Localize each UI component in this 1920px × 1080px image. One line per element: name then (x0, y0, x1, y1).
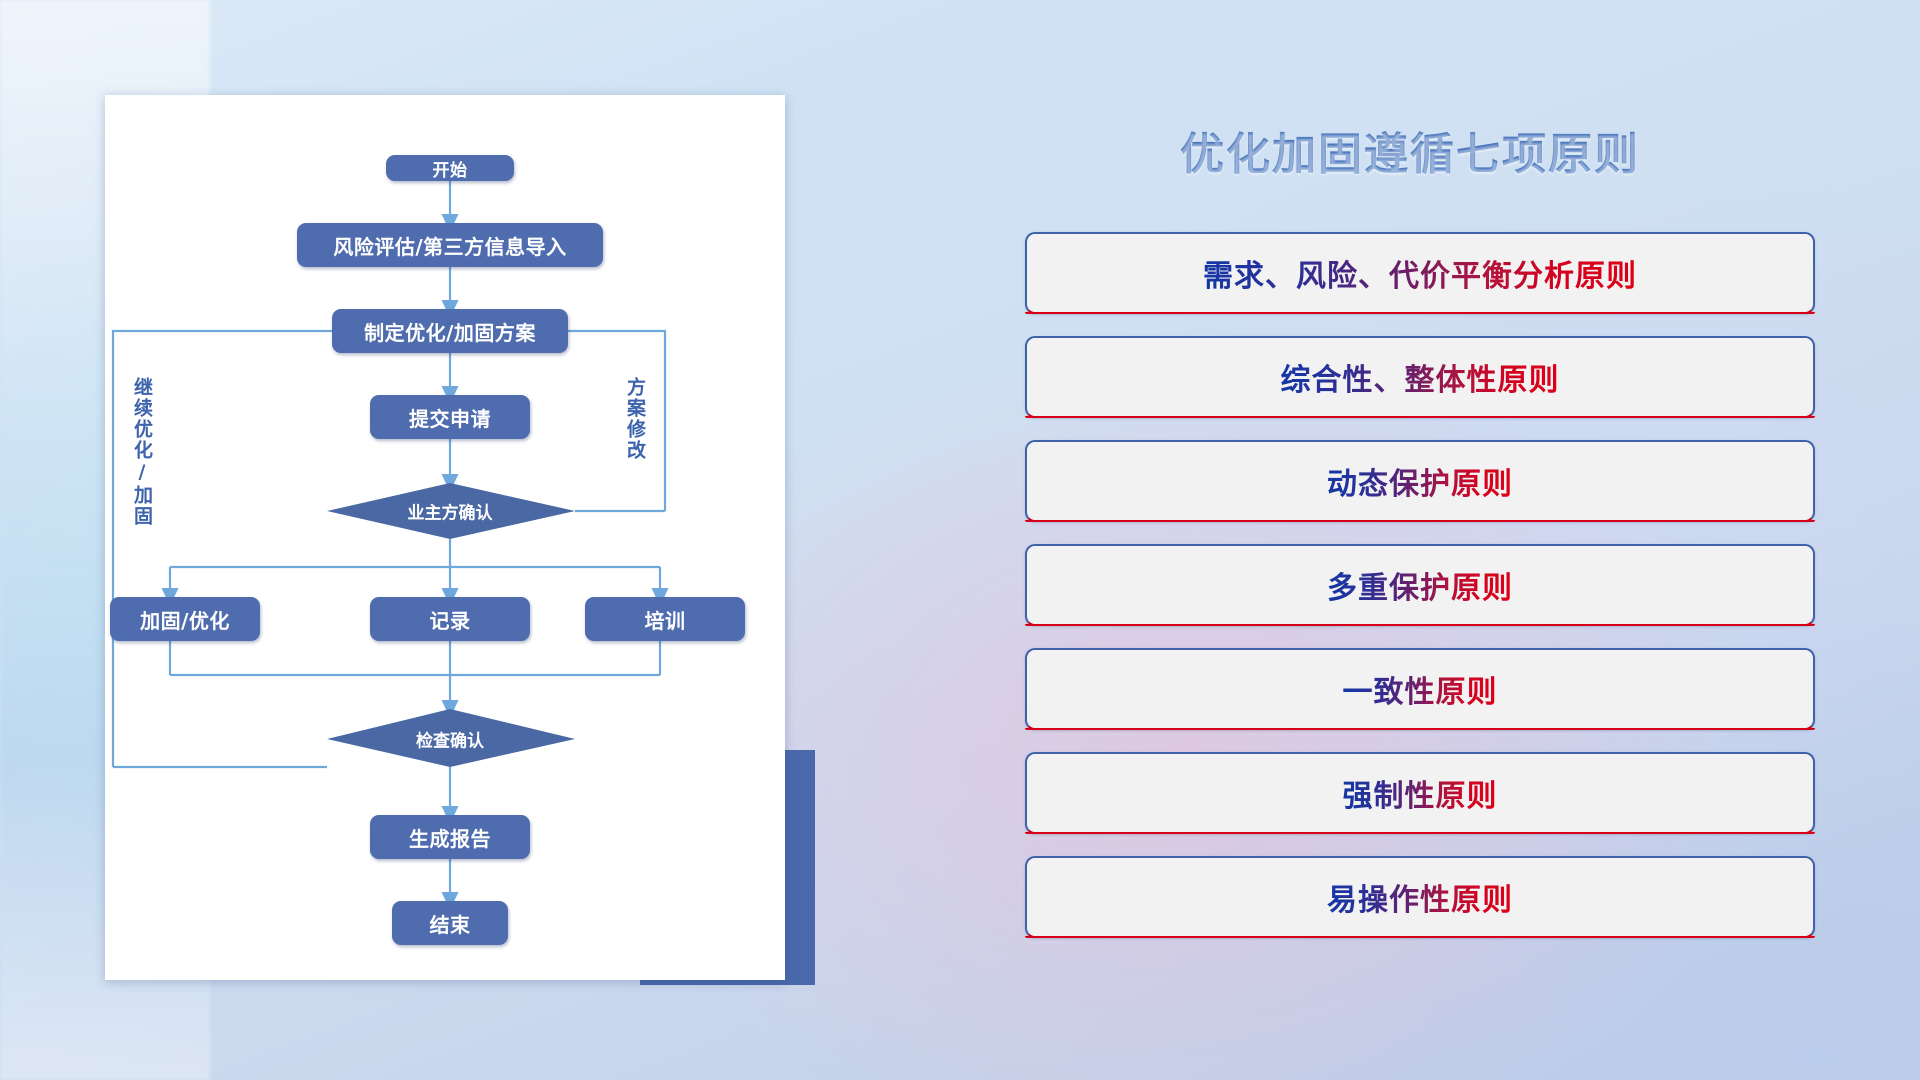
principle-label: 综合性、整体性原则 (1281, 355, 1560, 399)
principle-item-3[interactable]: 动态保护原则 (1025, 440, 1815, 522)
principle-item-6[interactable]: 强制性原则 (1025, 752, 1815, 834)
decision-inspection-label: 检查确认 (416, 727, 484, 752)
decision-owner-confirm-label: 业主方确认 (408, 499, 493, 524)
principle-item-4[interactable]: 多重保护原则 (1025, 544, 1815, 626)
node-generate-report[interactable]: 生成报告 (370, 815, 530, 859)
principle-label: 动态保护原则 (1327, 459, 1513, 503)
principle-label: 需求、风险、代价平衡分析原则 (1203, 251, 1637, 295)
page-title: 优化加固遵循七项原则 (1030, 118, 1790, 182)
node-record[interactable]: 记录 (370, 597, 530, 641)
principles-list: 需求、风险、代价平衡分析原则 综合性、整体性原则 动态保护原则 多重保护原则 一… (1025, 232, 1815, 960)
principle-label: 多重保护原则 (1327, 563, 1513, 607)
principle-label: 一致性原则 (1343, 667, 1498, 711)
node-start[interactable]: 开始 (386, 155, 514, 181)
principle-item-5[interactable]: 一致性原则 (1025, 648, 1815, 730)
principle-label: 易操作性原则 (1327, 875, 1513, 919)
flowchart-card: 业主方确认 检查确认 开始 风险评估/第三方信息导入 制定优化/加固方案 提交申… (105, 95, 785, 980)
node-risk-assessment[interactable]: 风险评估/第三方信息导入 (297, 223, 603, 267)
edge-label-plan-revision: 方案修改 (624, 377, 644, 461)
node-training[interactable]: 培训 (585, 597, 745, 641)
principle-item-7[interactable]: 易操作性原则 (1025, 856, 1815, 938)
node-submit-application[interactable]: 提交申请 (370, 395, 530, 439)
node-make-plan[interactable]: 制定优化/加固方案 (332, 309, 568, 353)
principle-item-2[interactable]: 综合性、整体性原则 (1025, 336, 1815, 418)
principle-item-1[interactable]: 需求、风险、代价平衡分析原则 (1025, 232, 1815, 314)
edge-label-continue-optimize: 继续优化/加固 (131, 377, 151, 527)
node-reinforce-optimize[interactable]: 加固/优化 (110, 597, 260, 641)
principle-label: 强制性原则 (1343, 771, 1498, 815)
node-end[interactable]: 结束 (392, 901, 508, 945)
